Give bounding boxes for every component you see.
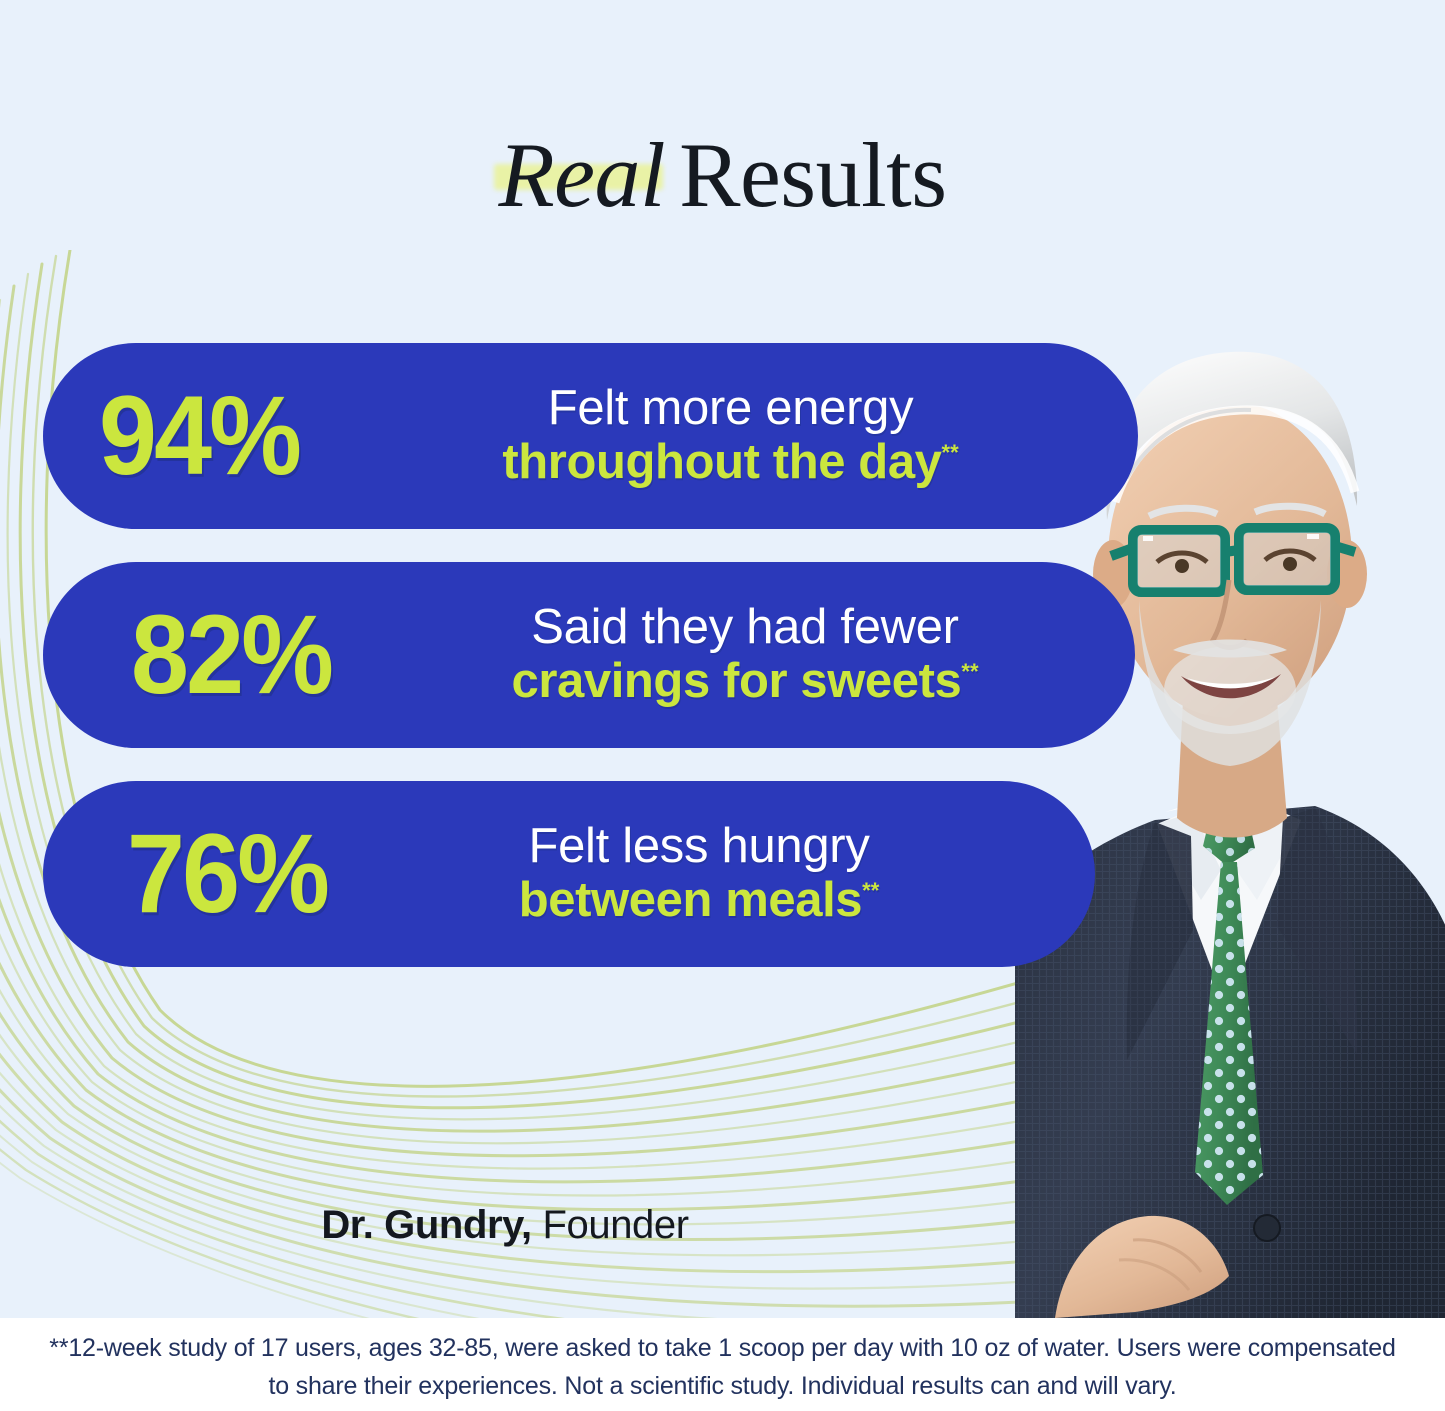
stat-line-2: throughout the day** [349, 435, 1112, 490]
footnote-marker: ** [862, 878, 879, 903]
stat-line-2: cravings for sweets** [381, 654, 1109, 709]
page-title-emphasis: Real [498, 122, 679, 228]
footnote-marker: ** [961, 659, 978, 684]
page-title-word-text: Results [679, 124, 946, 226]
stat-text: Said they had fewer cravings for sweets*… [381, 601, 1135, 708]
founder-attribution: Dr. Gundry, Founder [0, 1203, 1010, 1248]
stat-line-1: Said they had fewer [381, 601, 1109, 653]
stat-percent: 76% [88, 818, 367, 930]
stat-line-2-text: cravings for sweets [511, 654, 961, 708]
real-results-infographic: Real Results [0, 0, 1445, 1411]
stat-text: Felt more energy throughout the day** [349, 382, 1138, 489]
stat-line-2-text: throughout the day [502, 435, 941, 489]
footnote-marker: ** [942, 440, 959, 465]
disclaimer-line-1: **12-week study of 17 users, ages 32-85,… [49, 1329, 1395, 1367]
stat-pill-cravings: 82% Said they had fewer cravings for swe… [43, 562, 1135, 748]
stat-pill-energy: 94% Felt more energy throughout the day*… [43, 343, 1138, 529]
stat-percent: 82% [92, 599, 371, 711]
page-title: Real Results [0, 122, 1445, 228]
stat-line-2: between meals** [377, 873, 1021, 928]
stat-line-1: Felt more energy [349, 382, 1112, 434]
page-title-emphasis-text: Real [498, 124, 665, 226]
stat-line-1: Felt less hungry [377, 820, 1021, 872]
stat-pill-hunger: 76% Felt less hungry between meals** [43, 781, 1095, 967]
disclaimer-line-2: to share their experiences. Not a scient… [268, 1367, 1176, 1405]
disclaimer-footer: **12-week study of 17 users, ages 32-85,… [0, 1318, 1445, 1411]
stat-percent: 94% [60, 380, 339, 492]
stat-line-2-text: between meals [519, 873, 862, 927]
page-title-word: Results [679, 122, 946, 228]
stat-text: Felt less hungry between meals** [377, 820, 1095, 927]
founder-role: Founder [542, 1203, 688, 1247]
founder-name: Dr. Gundry, [321, 1203, 531, 1247]
